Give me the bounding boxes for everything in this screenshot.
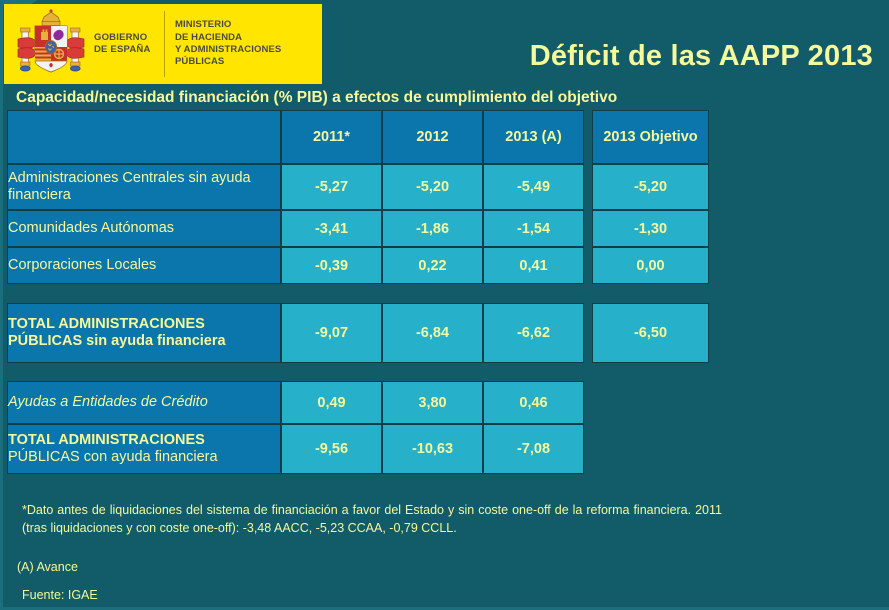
- footnote-asterisk: *Dato antes de liquidaciones del sistema…: [22, 501, 722, 537]
- header-cell-blank: [7, 110, 281, 164]
- total-label-line-2: PÚBLICAS sin ayuda financiera: [8, 333, 280, 350]
- cell-total-sin-2013: -6,62: [483, 303, 584, 363]
- spain-coat-of-arms-icon: [12, 8, 90, 80]
- cell-ccaa-2011: -3,41: [281, 210, 382, 247]
- ministerio-line-1: MINISTERIO: [175, 19, 322, 31]
- cell-ayudas-2011: 0,49: [281, 381, 382, 424]
- table-row: Comunidades Autónomas -3,41 -1,86 -1,54: [7, 210, 584, 247]
- cell-ayudas-2013: 0,46: [483, 381, 584, 424]
- total-con-label-line-1: TOTAL ADMINISTRACIONES: [8, 432, 280, 449]
- table-row: Administraciones Centrales sin ayuda fin…: [7, 164, 584, 210]
- ministerio-line-2: DE HACIENDA: [175, 32, 322, 44]
- cell-ccll-2011: -0,39: [281, 247, 382, 284]
- row-label-total-con-ayuda: TOTAL ADMINISTRACIONES PÚBLICAS con ayud…: [7, 424, 281, 474]
- cell-adm-centrales-2012: -5,20: [382, 164, 483, 210]
- ministerio-label: MINISTERIO DE HACIENDA Y ADMINISTRACIONE…: [175, 19, 322, 68]
- objetivo-header-row: 2013 Objetivo: [592, 110, 709, 164]
- page-title: Déficit de las AAPP 2013: [530, 40, 873, 73]
- cell-objetivo-adm-centrales: -5,20: [592, 164, 709, 210]
- table-row: Ayudas a Entidades de Crédito 0,49 3,80 …: [7, 381, 584, 424]
- cell-total-con-2012: -10,63: [382, 424, 483, 474]
- row-label-administraciones-centrales: Administraciones Centrales sin ayuda fin…: [7, 164, 281, 210]
- cell-total-con-2013: -7,08: [483, 424, 584, 474]
- footnote-avance: (A) Avance: [17, 558, 78, 576]
- cell-ccll-2013: 0,41: [483, 247, 584, 284]
- row-label-total-sin-ayuda: TOTAL ADMINISTRACIONES PÚBLICAS sin ayud…: [7, 303, 281, 363]
- cell-ayudas-2012: 3,80: [382, 381, 483, 424]
- total-con-label-line-2: PÚBLICAS con ayuda financiera: [8, 449, 280, 466]
- cell-objetivo-total-sin: -6,50: [592, 303, 709, 363]
- objetivo-column-table: 2013 Objetivo -5,20 -1,30 0,00: [592, 110, 709, 284]
- objetivo-row: -1,30: [592, 210, 709, 247]
- header-cell-2013a: 2013 (A): [483, 110, 584, 164]
- total-sin-ayuda-table: TOTAL ADMINISTRACIONES PÚBLICAS sin ayud…: [7, 303, 584, 363]
- total-label-line-1: TOTAL ADMINISTRACIONES: [8, 316, 280, 333]
- row-label-corporaciones-locales: Corporaciones Locales: [7, 247, 281, 284]
- objetivo-total-table: -6,50: [592, 303, 709, 363]
- objetivo-row: 0,00: [592, 247, 709, 284]
- header-cell-2011: 2011*: [281, 110, 382, 164]
- table-header-row: 2011* 2012 2013 (A): [7, 110, 584, 164]
- cell-ccaa-2012: -1,86: [382, 210, 483, 247]
- row-label-comunidades-autonomas: Comunidades Autónomas: [7, 210, 281, 247]
- header-cell-2013-objetivo: 2013 Objetivo: [592, 110, 709, 164]
- slide-left-border: [0, 0, 3, 610]
- cell-ccll-2012: 0,22: [382, 247, 483, 284]
- cell-total-sin-2012: -6,84: [382, 303, 483, 363]
- objetivo-row: -5,20: [592, 164, 709, 210]
- brand-divider: [164, 11, 165, 77]
- footnote-fuente: Fuente: IGAE: [22, 586, 98, 604]
- gobierno-line-2: DE ESPAÑA: [94, 44, 162, 56]
- table-row: Corporaciones Locales -0,39 0,22 0,41: [7, 247, 584, 284]
- table-row-total: TOTAL ADMINISTRACIONES PÚBLICAS con ayud…: [7, 424, 584, 474]
- cell-objetivo-ccll: 0,00: [592, 247, 709, 284]
- main-data-table: 2011* 2012 2013 (A) Administraciones Cen…: [7, 110, 584, 284]
- row-label-ayudas-entidades-credito: Ayudas a Entidades de Crédito: [7, 381, 281, 424]
- gobierno-line-1: GOBIERNO: [94, 32, 162, 44]
- ayudas-table: Ayudas a Entidades de Crédito 0,49 3,80 …: [7, 381, 584, 474]
- cell-total-con-2011: -9,56: [281, 424, 382, 474]
- cell-total-sin-2011: -9,07: [281, 303, 382, 363]
- ministerio-line-3: Y ADMINISTRACIONES PÚBLICAS: [175, 44, 322, 69]
- cell-adm-centrales-2013: -5,49: [483, 164, 584, 210]
- government-brand-banner: GOBIERNO DE ESPAÑA MINISTERIO DE HACIEND…: [4, 4, 322, 84]
- cell-adm-centrales-2011: -5,27: [281, 164, 382, 210]
- cell-ccaa-2013: -1,54: [483, 210, 584, 247]
- header-cell-2012: 2012: [382, 110, 483, 164]
- gobierno-de-espana-label: GOBIERNO DE ESPAÑA: [94, 32, 162, 56]
- page-subtitle: Capacidad/necesidad financiación (% PIB)…: [16, 89, 617, 107]
- objetivo-total-row: -6,50: [592, 303, 709, 363]
- cell-objetivo-ccaa: -1,30: [592, 210, 709, 247]
- slide-canvas: GOBIERNO DE ESPAÑA MINISTERIO DE HACIEND…: [0, 0, 889, 610]
- table-row-total: TOTAL ADMINISTRACIONES PÚBLICAS sin ayud…: [7, 303, 584, 363]
